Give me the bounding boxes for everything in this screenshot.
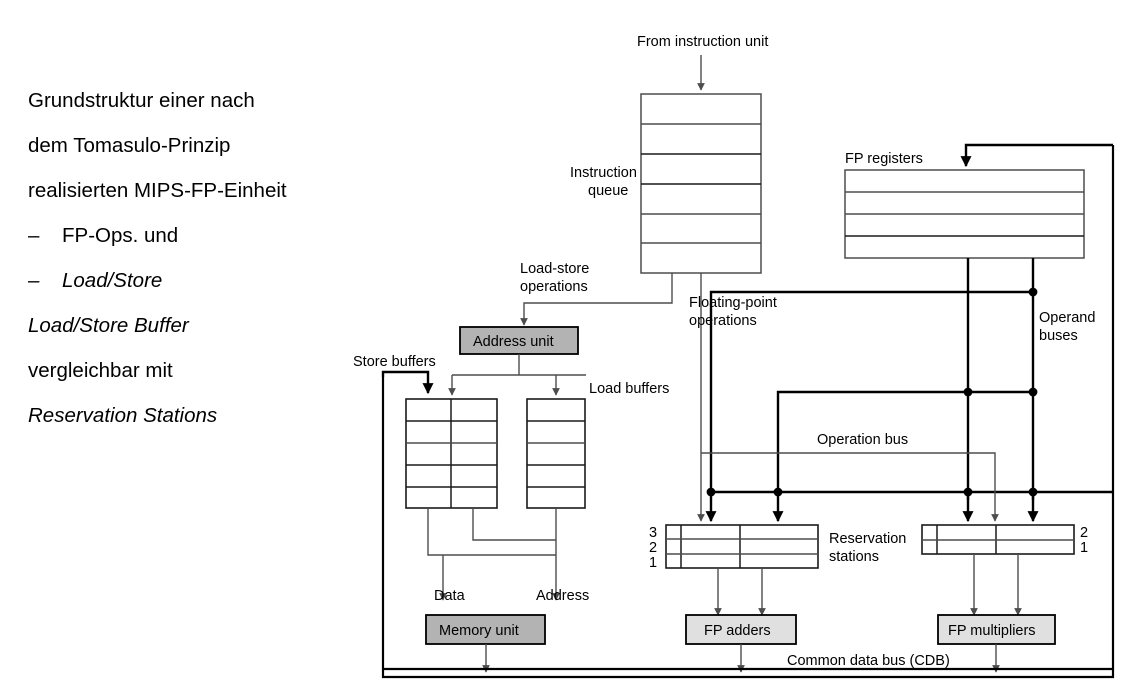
label-store-buffers: Store buffers xyxy=(353,354,436,370)
label-operand-buses-line2: buses xyxy=(1039,328,1078,344)
label-instruction-queue-line2: queue xyxy=(588,183,628,199)
label-address-unit: Address unit xyxy=(473,334,554,350)
tomasulo-architecture-diagram: From instruction unit Instruction queue … xyxy=(0,0,1129,682)
rs-left-number-1: 1 xyxy=(649,555,657,571)
label-load-buffers: Load buffers xyxy=(589,381,669,397)
label-floating-point-operations-line1: Floating-point xyxy=(689,295,777,311)
label-load-store-operations-line1: Load-store xyxy=(520,261,589,277)
label-fp-adders: FP adders xyxy=(704,623,771,639)
label-operation-bus: Operation bus xyxy=(817,432,908,448)
label-fp-multipliers: FP multipliers xyxy=(948,623,1036,639)
reservation-stations-left-box xyxy=(666,525,818,568)
junction-dot-1 xyxy=(1029,288,1038,297)
rs-right-number-1: 1 xyxy=(1080,540,1088,556)
label-common-data-bus: Common data bus (CDB) xyxy=(787,653,950,669)
line-store-buffer-out-2 xyxy=(473,508,556,540)
label-reservation-stations-line2: stations xyxy=(829,549,879,565)
label-memory-unit: Memory unit xyxy=(439,623,519,639)
junction-dot-3 xyxy=(964,388,973,397)
label-floating-point-operations-line2: operations xyxy=(689,313,757,329)
label-operand-buses-line1: Operand xyxy=(1039,310,1095,326)
line-store-buffer-out xyxy=(428,508,556,555)
path-operand-bus-a xyxy=(711,292,1033,521)
junction-dot-2 xyxy=(1029,388,1038,397)
load-buffers-box xyxy=(527,399,585,508)
label-instruction-queue-line1: Instruction xyxy=(570,165,637,181)
instruction-queue-box xyxy=(641,94,761,273)
label-load-store-operations-line2: operations xyxy=(520,279,588,295)
rs-right-number-2: 2 xyxy=(1080,525,1088,541)
store-buffers-box xyxy=(406,399,497,508)
fp-registers-box xyxy=(845,170,1084,258)
rs-left-number-3: 3 xyxy=(649,525,657,541)
reservation-stations-right-box xyxy=(922,525,1074,554)
label-address: Address xyxy=(536,588,589,604)
slide-canvas: Grundstruktur einer nach dem Tomasulo-Pr… xyxy=(0,0,1129,682)
label-data: Data xyxy=(434,588,466,604)
label-fp-registers: FP registers xyxy=(845,151,923,167)
label-reservation-stations-line1: Reservation xyxy=(829,531,906,547)
rs-left-number-2: 2 xyxy=(649,540,657,556)
path-operation-bus xyxy=(701,453,995,521)
label-from-instruction-unit: From instruction unit xyxy=(637,34,768,50)
arrow-store-buffers-label xyxy=(383,372,428,393)
path-cdb-to-fp-registers xyxy=(966,145,1113,166)
